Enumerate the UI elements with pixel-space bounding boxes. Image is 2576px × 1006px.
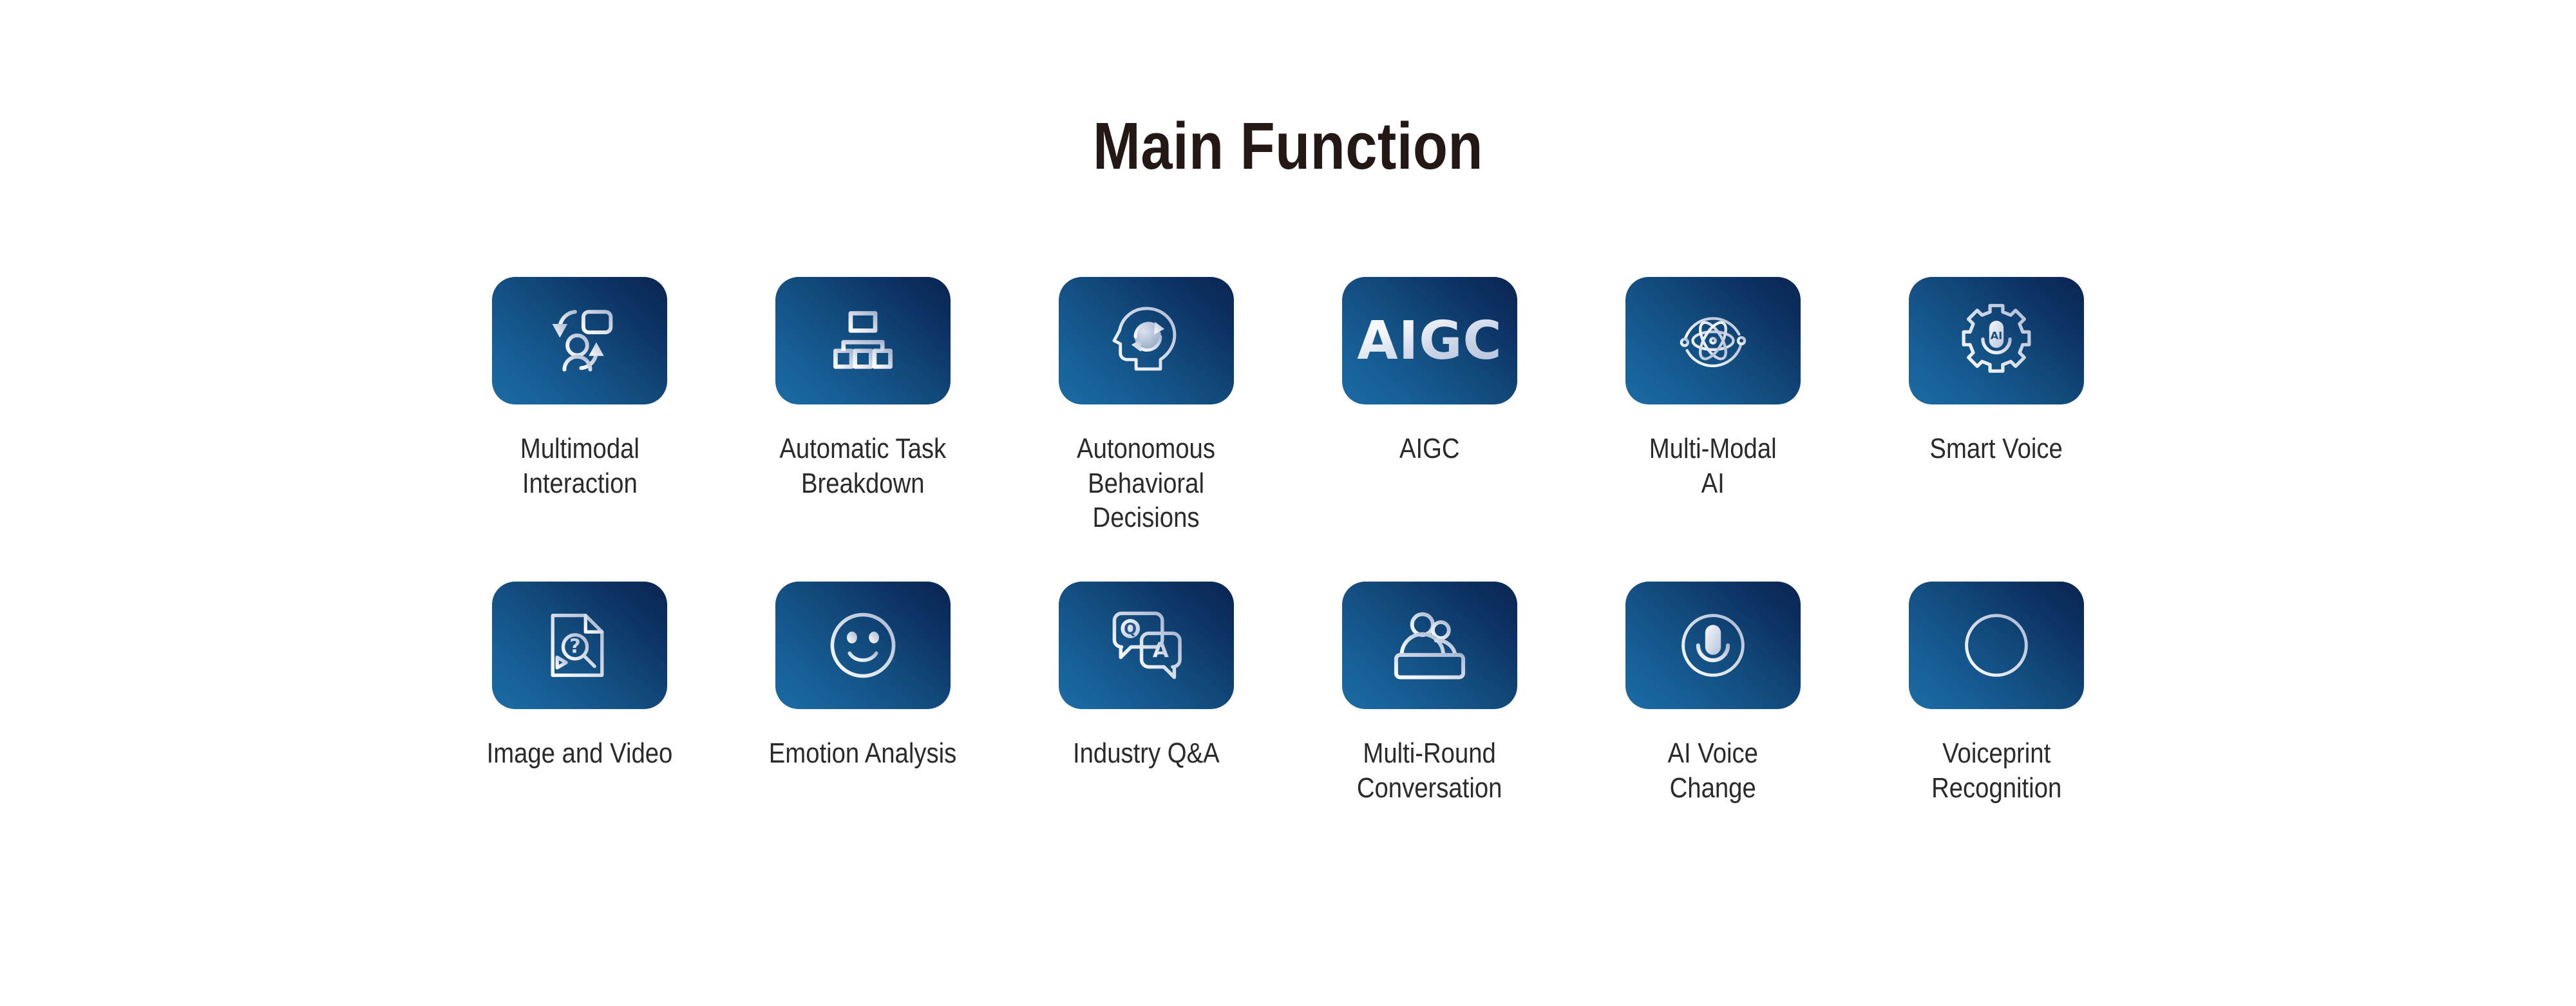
feature-tile[interactable] — [492, 277, 667, 404]
feature-item-multi-round-conversation[interactable]: Multi-Round Conversation — [1288, 582, 1571, 805]
feature-label: Multi-Modal AI — [1649, 432, 1777, 500]
feature-label: AIGC — [1399, 432, 1460, 466]
feature-tile[interactable]: AI — [1909, 277, 2084, 404]
feature-tile[interactable]: ? — [492, 582, 667, 709]
feature-item-voiceprint-recognition[interactable]: Voiceprint Recognition — [1855, 582, 2138, 805]
feature-tile[interactable] — [1059, 277, 1234, 404]
feature-tile[interactable]: Q A — [1059, 582, 1234, 709]
document-search-play-icon: ? — [542, 608, 617, 683]
feature-label: Smart Voice — [1930, 432, 2063, 466]
svg-text:Q: Q — [1124, 620, 1137, 638]
voice-waveform-circle-icon — [1957, 606, 2036, 685]
feature-row: Multimodal Interaction — [0, 277, 2576, 535]
atom-orbit-icon — [1672, 300, 1754, 381]
microphone-circle-icon — [1674, 606, 1752, 685]
feature-item-industry-qa[interactable]: Q A Industry Q&A — [1005, 582, 1288, 771]
feature-item-autonomous-behavioral-decisions[interactable]: Autonomous Behavioral Decisions — [1005, 277, 1288, 535]
feature-tile[interactable] — [1625, 582, 1801, 709]
feature-label: Multimodal Interaction — [520, 432, 639, 500]
feature-tile[interactable]: AIGC — [1342, 277, 1517, 404]
feature-label: Multi-Round Conversation — [1357, 736, 1502, 805]
feature-tile[interactable] — [1909, 582, 2084, 709]
main-function-page: Main Function — [0, 0, 2576, 1006]
feature-label: Automatic Task Breakdown — [780, 432, 947, 500]
gear-microphone-ai-icon: AI — [1956, 301, 2036, 381]
feature-tile[interactable] — [775, 582, 951, 709]
feature-item-automatic-task-breakdown[interactable]: Automatic Task Breakdown — [721, 277, 1005, 500]
multimodal-interaction-icon — [542, 303, 618, 379]
head-refresh-decision-icon — [1107, 301, 1186, 380]
feature-label: Autonomous Behavioral Decisions — [1077, 432, 1216, 535]
feature-item-ai-voice-change[interactable]: AI Voice Change — [1571, 582, 1855, 805]
feature-label: Image and Video — [487, 736, 673, 771]
feature-item-image-and-video[interactable]: ? Image and Video — [438, 582, 721, 771]
page-title: Main Function — [180, 109, 2396, 182]
feature-tile[interactable] — [1625, 277, 1801, 404]
feature-label: Emotion Analysis — [769, 736, 957, 771]
group-conversation-desk-icon — [1390, 605, 1470, 685]
feature-item-aigc[interactable]: AIGC AIGC — [1288, 277, 1571, 466]
feature-label: AI Voice Change — [1668, 736, 1758, 805]
feature-tile[interactable] — [1342, 582, 1517, 709]
feature-grid: Multimodal Interaction — [0, 277, 2576, 805]
aigc-text-icon: AIGC — [1357, 310, 1502, 372]
feature-item-multimodal-interaction[interactable]: Multimodal Interaction — [438, 277, 721, 500]
svg-text:A: A — [1153, 638, 1169, 663]
feature-item-emotion-analysis[interactable]: Emotion Analysis — [721, 582, 1005, 771]
feature-label: Industry Q&A — [1073, 736, 1220, 771]
qa-speech-bubbles-icon: Q A — [1106, 605, 1186, 685]
svg-text:?: ? — [569, 636, 581, 658]
feature-tile[interactable] — [775, 277, 951, 404]
svg-text:AI: AI — [1991, 330, 2002, 342]
feature-row: ? Image and Video — [0, 582, 2576, 805]
feature-label: Voiceprint Recognition — [1931, 736, 2061, 805]
smiley-face-icon — [824, 606, 902, 685]
hierarchy-task-breakdown-icon — [827, 305, 899, 377]
feature-item-multi-modal-ai[interactable]: Multi-Modal AI — [1571, 277, 1855, 500]
feature-item-smart-voice[interactable]: AI Smart Voice — [1855, 277, 2138, 466]
